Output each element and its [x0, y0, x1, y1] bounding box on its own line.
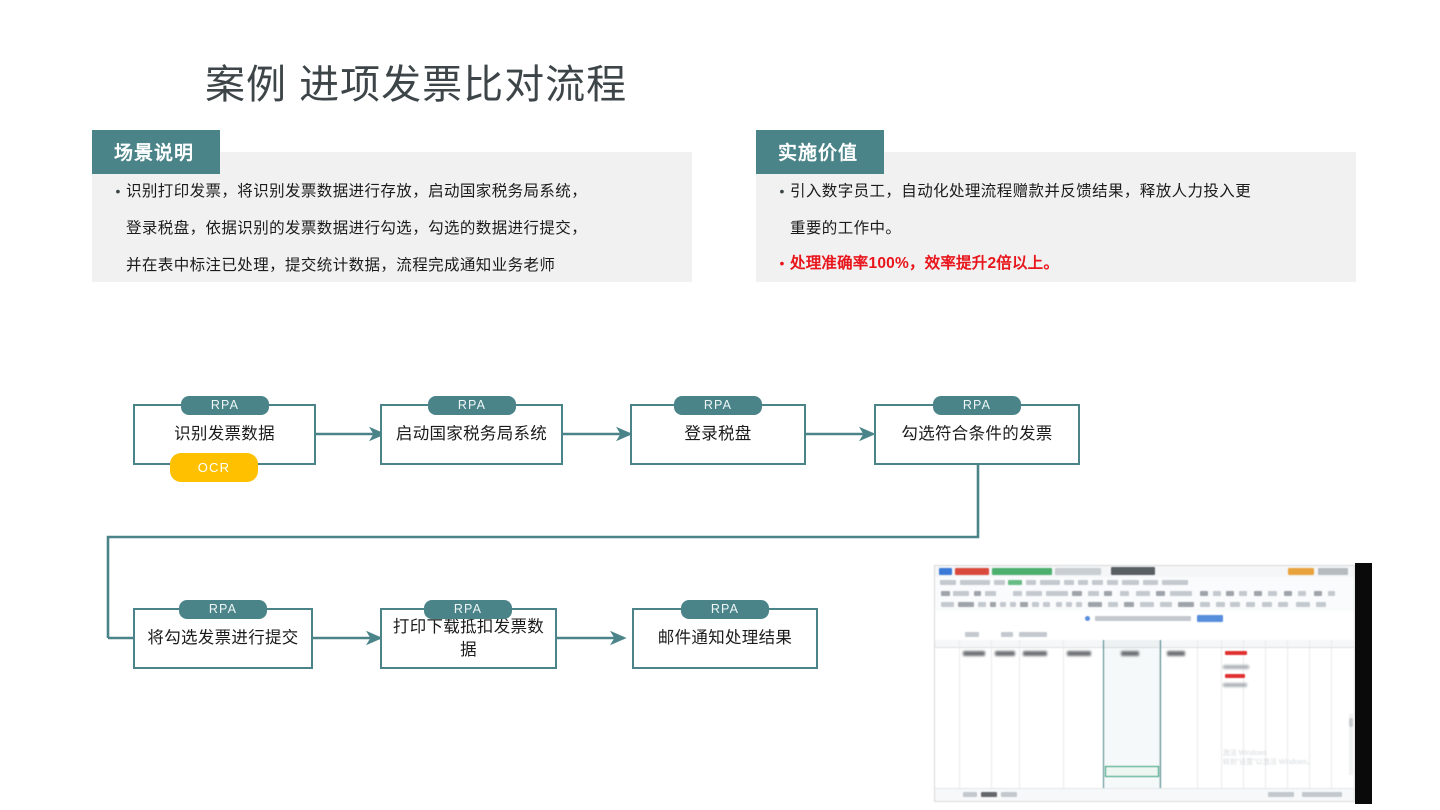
flow-node-4-label: 勾选符合条件的发票	[901, 423, 1052, 446]
header-cell	[1067, 651, 1091, 656]
account-chip	[1288, 568, 1314, 575]
flow-node-3-tag-rpa: RPA	[674, 396, 762, 415]
header-cell	[1023, 651, 1047, 656]
ribbon-row-icons-1	[938, 589, 1351, 598]
header-cell	[1121, 651, 1139, 656]
flow-node-5-tag-rpa: RPA	[179, 600, 267, 619]
flow-node-1-tag-rpa: RPA	[181, 396, 269, 415]
spreadsheet-grid[interactable]: 激活 Windows 转到"设置"以激活 Windows。	[935, 640, 1354, 789]
name-box[interactable]	[965, 632, 979, 637]
flow-node-7-tag-rpa: RPA	[681, 600, 769, 619]
sheet-tab-active[interactable]	[981, 792, 997, 797]
ribbon-row-tabs	[938, 578, 1351, 587]
bullet-text: 重要的工作中。	[790, 213, 901, 244]
status-bar	[935, 788, 1354, 801]
banner-button[interactable]	[1197, 615, 1223, 622]
panel-value-bullets: • 引入数字员工，自动化处理流程赠款并反馈结果，释放人力投入更 重要的工作中。 …	[774, 176, 1354, 283]
titlebar-filename	[1055, 568, 1101, 575]
flow-node-7-label: 邮件通知处理结果	[658, 627, 792, 650]
bullet-marker: •	[774, 250, 790, 277]
panel-value-header: 实施价值	[756, 130, 884, 174]
active-cell[interactable]	[1105, 766, 1159, 777]
header-cell-highlight	[1225, 651, 1247, 655]
list-item: 登录税盘，依据识别的发票数据进行勾选，勾选的数据进行提交，	[110, 213, 680, 244]
header-cell	[995, 651, 1015, 656]
header-cell	[1167, 651, 1185, 656]
scrollbar-thumb[interactable]	[1349, 718, 1353, 728]
note-cell-red	[1225, 674, 1245, 678]
flow-node-3-label: 登录税盘	[684, 423, 751, 446]
bullet-marker: •	[774, 176, 790, 207]
flow-node-4-tag-rpa: RPA	[933, 396, 1021, 415]
window-controls	[1318, 568, 1348, 575]
list-item: 重要的工作中。	[774, 213, 1354, 244]
flow-node-2-label: 启动国家税务局系统	[396, 423, 547, 446]
ribbon-row-icons-2	[938, 600, 1351, 609]
flow-node-6-tag-rpa: RPA	[424, 600, 512, 619]
list-item: • 引入数字员工，自动化处理流程赠款并反馈结果，释放人力投入更	[774, 176, 1354, 207]
bullet-marker: •	[110, 176, 126, 207]
fx-icons	[1001, 632, 1013, 637]
formula-input-value	[1019, 632, 1047, 637]
note-cell	[1223, 665, 1249, 669]
panel-scenario-header: 场景说明	[92, 130, 220, 174]
list-item: 并在表中标注已处理，提交统计数据，流程完成通知业务老师	[110, 250, 680, 281]
flow-node-5-label: 将勾选发票进行提交	[147, 627, 298, 650]
bullet-text: 并在表中标注已处理，提交统计数据，流程完成通知业务老师	[126, 250, 555, 281]
bullet-text: 识别打印发票，将识别发票数据进行存放，启动国家税务局系统，	[126, 176, 587, 207]
header-cell	[963, 651, 985, 656]
notification-banner-row	[935, 611, 1354, 629]
bullet-text: 处理准确率100%，效率提升2倍以上。	[790, 250, 1059, 277]
info-dot-icon	[1085, 616, 1090, 621]
zoom-controls[interactable]	[1302, 792, 1342, 797]
windows-activation-watermark: 激活 Windows 转到"设置"以激活 Windows。	[1223, 749, 1314, 767]
flow-node-2-tag-rpa: RPA	[428, 396, 516, 415]
monitor-bezel-bottom	[924, 804, 1372, 808]
titlebar-center-box	[1111, 567, 1155, 575]
spreadsheet-screenshot: 激活 Windows 转到"设置"以激活 Windows。	[924, 563, 1372, 808]
panel-scenario-bullets: • 识别打印发票，将识别发票数据进行存放，启动国家税务局系统， 登录税盘，依据识…	[110, 176, 680, 287]
tab-chip-red	[955, 568, 989, 575]
spreadsheet-app-window: 激活 Windows 转到"设置"以激活 Windows。	[934, 565, 1355, 802]
bullet-text: 引入数字员工，自动化处理流程赠款并反馈结果，释放人力投入更	[790, 176, 1251, 207]
flow-node-6-label: 打印下载抵扣发票数据	[388, 616, 549, 662]
sheet-tab[interactable]	[963, 792, 977, 797]
monitor-bezel-right	[1355, 563, 1372, 808]
list-item-highlight: • 处理准确率100%，效率提升2倍以上。	[774, 250, 1354, 277]
sheet-tab[interactable]	[1001, 792, 1017, 797]
note-cell	[1223, 683, 1247, 687]
flow-node-1-label: 识别发票数据	[174, 423, 275, 446]
banner-text	[1095, 616, 1191, 621]
flow-node-1-badge-ocr: OCR	[172, 455, 256, 480]
view-mode-icons[interactable]	[1268, 792, 1294, 797]
vertical-scrollbar[interactable]	[1349, 714, 1353, 775]
bullet-text: 登录税盘，依据识别的发票数据进行勾选，勾选的数据进行提交，	[126, 213, 587, 244]
tab-chip-green	[992, 568, 1052, 575]
app-logo-chip	[939, 568, 952, 575]
ribbon-toolbar[interactable]	[935, 577, 1354, 612]
list-item: • 识别打印发票，将识别发票数据进行存放，启动国家税务局系统，	[110, 176, 680, 207]
